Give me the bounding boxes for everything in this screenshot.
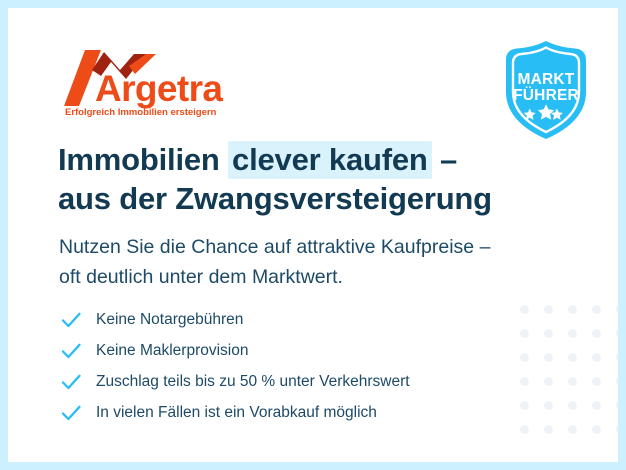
- list-item: Zuschlag teils bis zu 50 % unter Verkehr…: [60, 367, 530, 397]
- markt-fuehrer-badge: MARKT FÜHRER: [497, 40, 595, 142]
- decorative-dot: [616, 305, 625, 314]
- decorative-dot: [544, 377, 553, 386]
- decorative-dot: [616, 425, 625, 434]
- list-item: Keine Notargebühren: [60, 305, 530, 335]
- decorative-dot: [568, 425, 577, 434]
- decorative-dot: [592, 377, 601, 386]
- decorative-dot: [616, 377, 625, 386]
- headline-line1-after: –: [432, 142, 457, 177]
- list-item: Keine Maklerprovision: [60, 336, 530, 366]
- list-item-label: In vielen Fällen ist ein Vorabkauf mögli…: [96, 404, 377, 422]
- decorative-dot: [568, 329, 577, 338]
- decorative-dot: [568, 305, 577, 314]
- decorative-dot: [592, 305, 601, 314]
- decorative-dot: [616, 329, 625, 338]
- subheadline: Nutzen Sie die Chance auf attraktive Kau…: [59, 232, 579, 292]
- decorative-dot: [544, 425, 553, 434]
- decorative-dot: [568, 353, 577, 362]
- benefit-list: Keine Notargebühren Keine Maklerprovisio…: [60, 305, 530, 429]
- headline-line1-before: Immobilien: [58, 142, 228, 177]
- subheadline-line2: oft deutlich unter dem Marktwert.: [59, 262, 579, 292]
- promo-card: Argetra Erfolgreich Immobilien ersteiger…: [0, 0, 626, 470]
- argetra-logo[interactable]: Argetra Erfolgreich Immobilien ersteiger…: [63, 48, 263, 118]
- svg-text:Erfolgreich Immobilien ersteig: Erfolgreich Immobilien ersteigern: [65, 107, 217, 118]
- check-icon: [60, 402, 82, 424]
- decorative-dot: [592, 425, 601, 434]
- headline: Immobilien clever kaufen – aus der Zwang…: [58, 140, 598, 218]
- decorative-dot: [544, 305, 553, 314]
- decorative-dot: [568, 377, 577, 386]
- headline-line2: aus der Zwangsversteigerung: [58, 179, 598, 218]
- decorative-dot: [544, 353, 553, 362]
- svg-text:Argetra: Argetra: [95, 68, 223, 109]
- list-item-label: Zuschlag teils bis zu 50 % unter Verkehr…: [96, 373, 410, 391]
- dot-grid-decoration: [520, 305, 626, 435]
- decorative-dot: [568, 401, 577, 410]
- card-inner: Argetra Erfolgreich Immobilien ersteiger…: [8, 8, 618, 462]
- decorative-dot: [544, 401, 553, 410]
- subheadline-line1: Nutzen Sie die Chance auf attraktive Kau…: [59, 232, 579, 262]
- check-icon: [60, 309, 82, 331]
- list-item: In vielen Fällen ist ein Vorabkauf mögli…: [60, 398, 530, 428]
- headline-highlight: clever kaufen: [228, 141, 432, 179]
- decorative-dot: [592, 401, 601, 410]
- decorative-dot: [616, 353, 625, 362]
- svg-text:FÜHRER: FÜHRER: [513, 87, 579, 104]
- list-item-label: Keine Notargebühren: [96, 311, 243, 329]
- decorative-dot: [592, 353, 601, 362]
- svg-text:MARKT: MARKT: [518, 71, 575, 88]
- check-icon: [60, 371, 82, 393]
- decorative-dot: [592, 329, 601, 338]
- decorative-dot: [544, 329, 553, 338]
- list-item-label: Keine Maklerprovision: [96, 342, 249, 360]
- decorative-dot: [616, 401, 625, 410]
- check-icon: [60, 340, 82, 362]
